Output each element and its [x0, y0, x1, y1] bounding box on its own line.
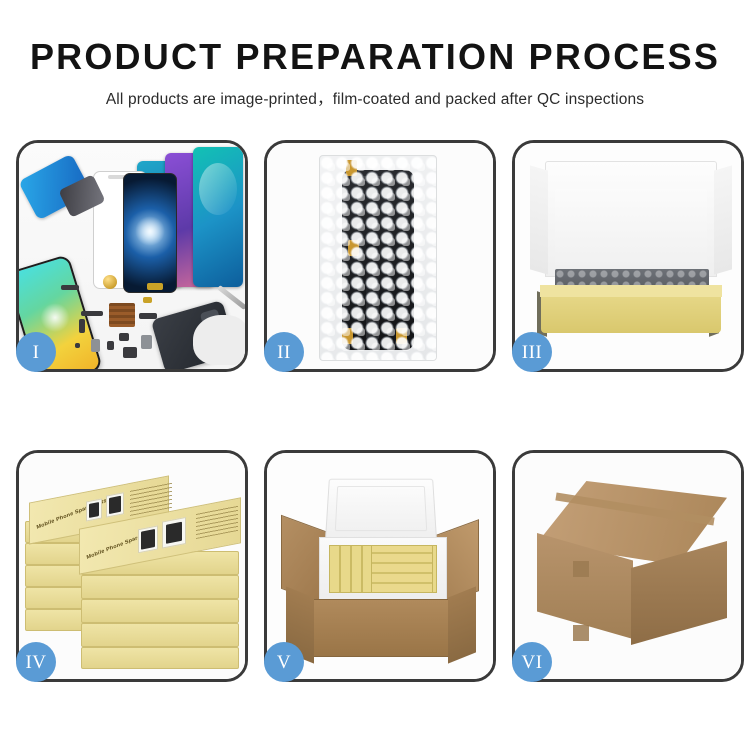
process-step-1: I — [16, 140, 248, 372]
step-badge-3: III — [512, 332, 552, 372]
step-badge-4: IV — [16, 642, 56, 682]
page-header: PRODUCT PREPARATION PROCESS All products… — [0, 0, 750, 109]
step-badge-5: V — [264, 642, 304, 682]
infographic-page: PRODUCT PREPARATION PROCESS All products… — [0, 0, 750, 750]
page-title: PRODUCT PREPARATION PROCESS — [0, 36, 750, 77]
step-badge-6: VI — [512, 642, 552, 682]
step-2-photo — [267, 143, 493, 369]
process-step-6: VI — [512, 450, 744, 682]
step-6-photo — [515, 453, 741, 679]
step-3-photo — [515, 143, 741, 369]
step-badge-2: II — [264, 332, 304, 372]
step-badge-1: I — [16, 332, 56, 372]
step-4-photo: Mobile Phone Spare Parts Mobile Phone Sp… — [19, 453, 245, 679]
step-5-photo — [267, 453, 493, 679]
process-step-4: Mobile Phone Spare Parts Mobile Phone Sp… — [16, 450, 248, 682]
process-step-3: III — [512, 140, 744, 372]
process-step-grid: I II — [16, 140, 734, 682]
page-subtitle: All products are image-printed，film-coat… — [0, 87, 750, 109]
step-1-photo — [19, 143, 245, 369]
process-step-5: V — [264, 450, 496, 682]
process-step-2: II — [264, 140, 496, 372]
